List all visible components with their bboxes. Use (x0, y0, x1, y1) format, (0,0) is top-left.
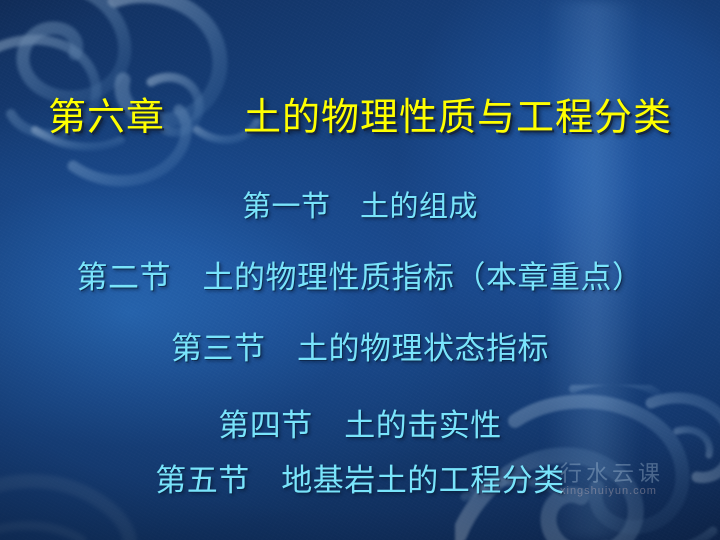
section-item-2: 第二节 土的物理性质指标（本章重点） (0, 262, 720, 293)
section-item-4: 第四节 土的击实性 (0, 410, 720, 441)
section-item-1: 第一节 土的组成 (0, 193, 720, 222)
section-item-5: 第五节 地基岩土的工程分类 (0, 465, 720, 496)
section-item-3: 第三节 土的物理状态指标 (0, 333, 720, 364)
slide-title: 第六章 土的物理性质与工程分类 (0, 98, 720, 140)
section-list: 第一节 土的组成 第二节 土的物理性质指标（本章重点） 第三节 土的物理状态指标… (0, 193, 720, 496)
presentation-slide: 第六章 土的物理性质与工程分类 第一节 土的组成 第二节 土的物理性质指标（本章… (0, 0, 720, 540)
